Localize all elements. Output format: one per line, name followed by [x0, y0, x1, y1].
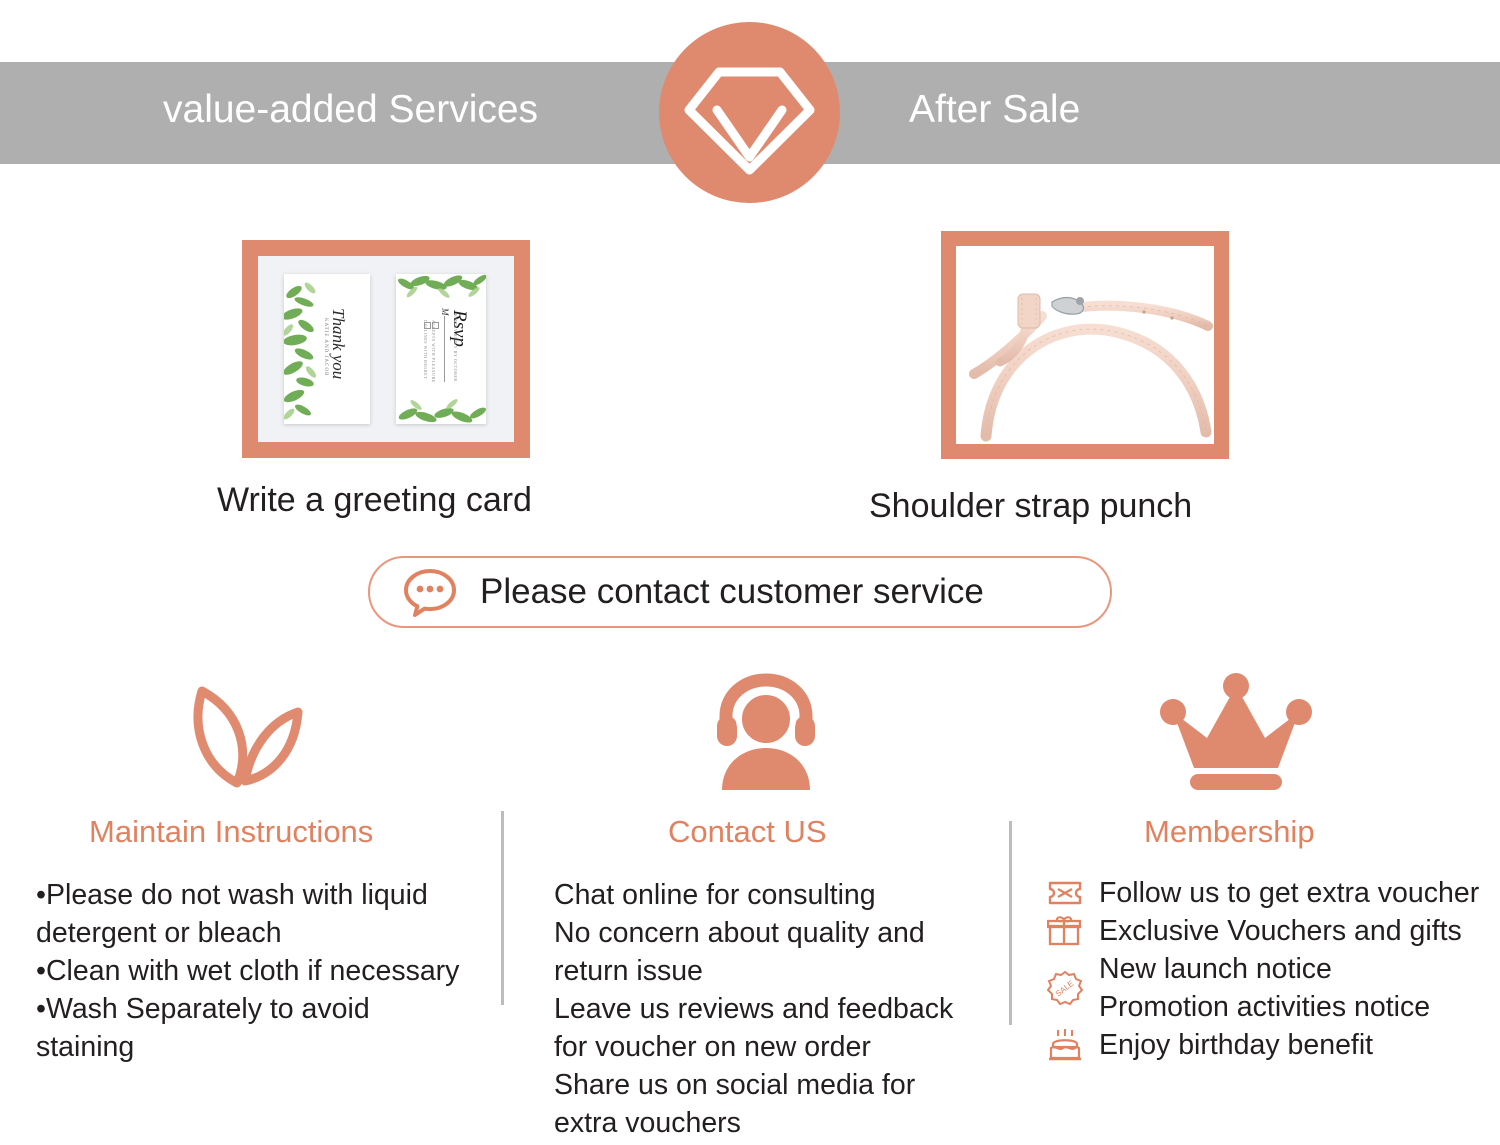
membership-benefit-label: Enjoy birthday benefit	[1099, 1026, 1373, 1064]
list-item: Follow us to get extra voucher	[1047, 874, 1487, 912]
heading-contact-us: Contact US	[668, 814, 827, 850]
gift-box-icon	[1047, 912, 1099, 950]
header-title-after-sale: After Sale	[909, 88, 1080, 132]
list-item: •Clean with wet cloth if necessary	[36, 952, 466, 990]
chat-bubble-icon	[402, 564, 458, 620]
birthday-cake-icon	[1047, 1026, 1099, 1064]
rsvp-reply-by: KINDLY REPLY BY OCTOBER	[453, 314, 458, 382]
list-item: Exclusive Vouchers and gifts	[1047, 912, 1487, 950]
header-title-value-added-services: value-added Services	[163, 88, 538, 132]
list-item: SALE New launch notice Promotion activit…	[1047, 950, 1487, 1026]
greeting-card-photo: Thank you KATIE AND JACOB	[258, 256, 514, 442]
greenery-top-decoration-icon	[396, 274, 486, 308]
thank-you-subtext: KATIE AND JACOB	[323, 318, 328, 376]
list-item: No concern about quality and return issu…	[554, 914, 984, 990]
ticket-voucher-icon	[1047, 874, 1099, 912]
membership-benefit-label: New launch notice	[1099, 950, 1430, 988]
rsvp-checkbox-accept	[432, 322, 439, 329]
membership-benefit-label: Follow us to get extra voucher	[1099, 874, 1479, 912]
caption-shoulder-strap-punch: Shoulder strap punch	[869, 487, 1192, 526]
membership-benefit-label: Exclusive Vouchers and gifts	[1099, 912, 1462, 950]
contact-customer-service-label: Please contact customer service	[480, 572, 984, 612]
list-item: •Wash Separately to avoid staining	[36, 990, 466, 1066]
svg-text:SALE: SALE	[1054, 979, 1076, 999]
column-divider-right	[1009, 821, 1012, 1025]
shoulder-strap-photo	[956, 246, 1214, 444]
headset-agent-icon	[712, 672, 820, 795]
diamond-v-logo-icon	[659, 22, 840, 203]
list-item: Share us on social media for extra vouch…	[554, 1066, 984, 1142]
rsvp-option-accept: ACCEPTS WITH PLEASURE	[431, 320, 436, 383]
membership-benefits-list: Follow us to get extra voucher Exclusive…	[1047, 874, 1487, 1064]
column-divider-left	[501, 811, 504, 1005]
membership-benefit-label: Promotion activities notice	[1099, 988, 1430, 1026]
rsvp-card: Rsvp M KINDLY REPLY BY OCTOBER ACCEPTS W…	[396, 274, 486, 424]
greenery-decoration-icon	[284, 274, 318, 424]
thank-you-card: Thank you KATIE AND JACOB	[284, 274, 370, 424]
crown-icon	[1156, 672, 1316, 795]
caption-write-a-greeting-card: Write a greeting card	[217, 481, 532, 520]
rsvp-checkbox-decline	[424, 322, 431, 329]
thank-you-text: Thank you	[328, 308, 348, 379]
rsvp-name-rule	[444, 316, 445, 382]
rsvp-m-line: M	[440, 308, 450, 316]
contact-customer-service-button[interactable]: Please contact customer service	[368, 556, 1112, 628]
heading-maintain-instructions: Maintain Instructions	[89, 814, 373, 850]
greenery-bottom-decoration-icon	[396, 392, 486, 424]
sale-badge-icon: SALE	[1047, 950, 1099, 1026]
list-item: Chat online for consulting	[554, 876, 984, 914]
list-item: Enjoy birthday benefit	[1047, 1026, 1487, 1064]
list-item: •Please do not wash with liquid detergen…	[36, 876, 466, 952]
maintain-instructions-list: •Please do not wash with liquid detergen…	[36, 876, 466, 1066]
heading-membership: Membership	[1144, 814, 1315, 850]
rsvp-title: Rsvp	[448, 310, 470, 347]
list-item: Leave us reviews and feedback for vouche…	[554, 990, 984, 1066]
two-leaves-icon	[185, 683, 310, 798]
contact-us-list: Chat online for consulting No concern ab…	[554, 876, 984, 1142]
